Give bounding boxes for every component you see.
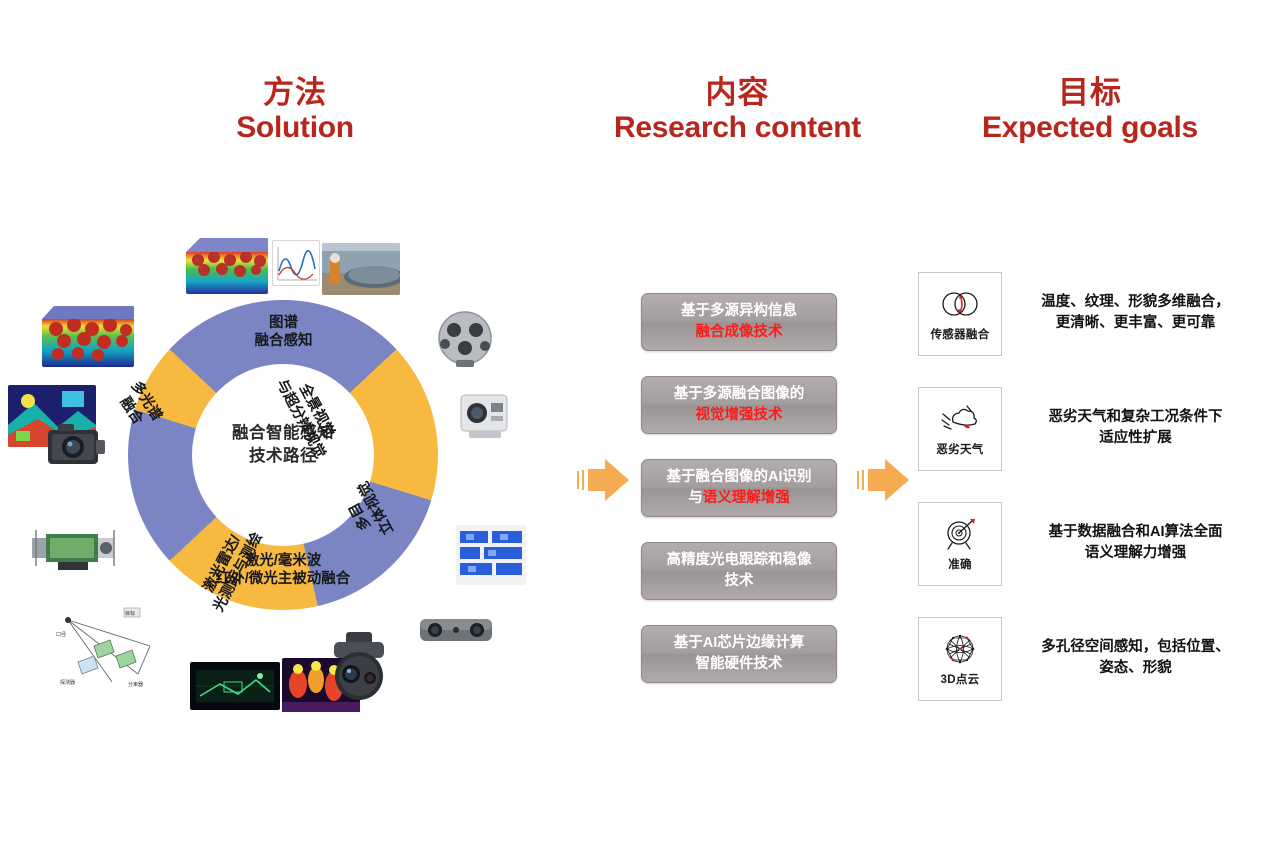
goal-3-desc-line2: 姿态、形貌	[1013, 658, 1258, 679]
research-box-0-line2: 融合成像技术	[681, 322, 797, 343]
donut-center-label: 融合智能感知 技术路径	[192, 422, 374, 468]
goal-card-0-label: 传感器融合	[931, 326, 990, 342]
header-cn-content: 内容	[600, 76, 875, 111]
svg-text:分束器: 分束器	[128, 681, 143, 688]
goal-description-sensor-fusion: 温度、纹理、形貌多维融合， 更清晰、更丰富、更可靠	[1013, 292, 1258, 334]
goal-card-severe-weather[interactable]: 恶劣天气	[918, 387, 1002, 471]
point-cloud-icon	[939, 632, 981, 666]
research-box-1-line2: 视觉增强技术	[674, 405, 805, 426]
research-box-2-line2: 语义理解增强	[703, 490, 790, 506]
svg-text:口径: 口径	[56, 631, 66, 638]
goal-card-accuracy[interactable]: 准确	[918, 502, 1002, 586]
research-box-edge-computing[interactable]: 基于AI芯片边缘计算 智能硬件技术	[641, 625, 837, 683]
thumbnail-optical-diagram: 目标 口径 探测器 分束器	[54, 600, 172, 690]
goal-card-3-label: 3D点云	[941, 671, 980, 687]
research-box-4-line2: 智能硬件技术	[674, 654, 805, 675]
thumbnail-gimbal-camera	[320, 630, 398, 704]
donut-center-line2: 技术路径	[192, 445, 374, 468]
segment-3-line2: 红外/微光主被动融合	[138, 570, 428, 588]
thumbnail-blue-structured-light	[456, 525, 526, 585]
segment-label-laser-mmwave[interactable]: 激光/毫米波 红外/微光主被动融合	[138, 552, 428, 588]
thumbnail-lab-instrument	[455, 385, 517, 443]
header-en-goals: Expected goals	[945, 111, 1235, 145]
goal-2-desc-line1: 基于数据融合和AI算法全面	[1013, 522, 1258, 543]
goal-2-desc-line2: 语义理解力增强	[1013, 543, 1258, 564]
technology-roadmap-donut: 融合智能感知 技术路径 图谱 融合感知 全景视觉 与超分辨视觉 多目 立体视觉 …	[128, 300, 438, 610]
goal-card-2-label: 准确	[948, 556, 972, 572]
goal-description-severe-weather: 恶劣天气和复杂工况条件下 适应性扩展	[1013, 407, 1258, 449]
diagram-canvas: 方法 Solution 内容 Research content 目标 Expec…	[0, 0, 1268, 866]
goal-0-desc-line2: 更清晰、更丰富、更可靠	[1013, 313, 1258, 334]
thumbnail-stereo-camera-bar	[416, 607, 496, 651]
research-box-4-line1: 基于AI芯片边缘计算	[674, 633, 805, 654]
arrow-solution-to-content	[575, 455, 631, 505]
severe-weather-icon	[939, 402, 981, 436]
segment-0-line2: 融合感知	[211, 332, 356, 350]
thumbnail-optical-module	[28, 520, 120, 576]
thumbnail-multi-lens-sphere	[432, 308, 498, 368]
segment-label-tupu-fusion[interactable]: 图谱 融合感知	[211, 314, 356, 350]
research-box-2-line2-prefix: 与	[688, 490, 703, 506]
research-box-fusion-imaging[interactable]: 基于多源异构信息 融合成像技术	[641, 293, 837, 351]
header-en-solution: Solution	[160, 111, 430, 145]
thumbnail-pipeline-photo	[322, 243, 400, 295]
goal-card-sensor-fusion[interactable]: 传感器融合	[918, 272, 1002, 356]
thumbnail-thermal-berries	[42, 305, 134, 367]
goal-card-point-cloud[interactable]: 3D点云	[918, 617, 1002, 701]
svg-text:目标: 目标	[125, 610, 135, 617]
research-box-3-line2: 技术	[667, 571, 812, 592]
header-en-content: Research content	[600, 111, 875, 145]
goal-description-accuracy: 基于数据融合和AI算法全面 语义理解力增强	[1013, 522, 1258, 564]
research-box-visual-enhancement[interactable]: 基于多源融合图像的 视觉增强技术	[641, 376, 837, 434]
header-cn-solution: 方法	[160, 76, 430, 111]
thumbnail-spectrum-plot	[272, 240, 320, 286]
research-box-1-line1: 基于多源融合图像的	[674, 384, 805, 405]
research-box-0-line1: 基于多源异构信息	[681, 301, 797, 322]
segment-3-line1: 激光/毫米波	[138, 552, 428, 570]
thumbnail-hyperspectral-cube	[186, 236, 268, 294]
column-header-expected-goals: 目标 Expected goals	[945, 76, 1235, 144]
goal-card-1-label: 恶劣天气	[936, 441, 983, 457]
goal-0-desc-line1: 温度、纹理、形貌多维融合，	[1013, 292, 1258, 313]
goal-description-point-cloud: 多孔径空间感知，包括位置、 姿态、形貌	[1013, 637, 1258, 679]
segment-0-line1: 图谱	[211, 314, 356, 332]
donut-center-line1: 融合智能感知	[192, 422, 374, 445]
column-header-solution: 方法 Solution	[160, 76, 430, 144]
research-box-ai-recognition[interactable]: 基于融合图像的AI识别 与语义理解增强	[641, 459, 837, 517]
goal-1-desc-line1: 恶劣天气和复杂工况条件下	[1013, 407, 1258, 428]
research-box-3-line1: 高精度光电跟踪和稳像	[667, 550, 812, 571]
target-accuracy-icon	[939, 517, 981, 551]
sensor-fusion-icon	[939, 287, 981, 321]
thumbnail-night-vision-screen	[190, 662, 280, 710]
column-header-research-content: 内容 Research content	[600, 76, 875, 144]
research-box-2-line1: 基于融合图像的AI识别	[667, 467, 812, 488]
header-cn-goals: 目标	[945, 76, 1235, 111]
thumbnail-thermal-camera	[44, 420, 108, 470]
goal-3-desc-line1: 多孔径空间感知，包括位置、	[1013, 637, 1258, 658]
svg-text:探测器: 探测器	[60, 679, 75, 686]
goal-1-desc-line2: 适应性扩展	[1013, 428, 1258, 449]
research-box-tracking-stabilization[interactable]: 高精度光电跟踪和稳像 技术	[641, 542, 837, 600]
arrow-content-to-goals	[855, 455, 911, 505]
